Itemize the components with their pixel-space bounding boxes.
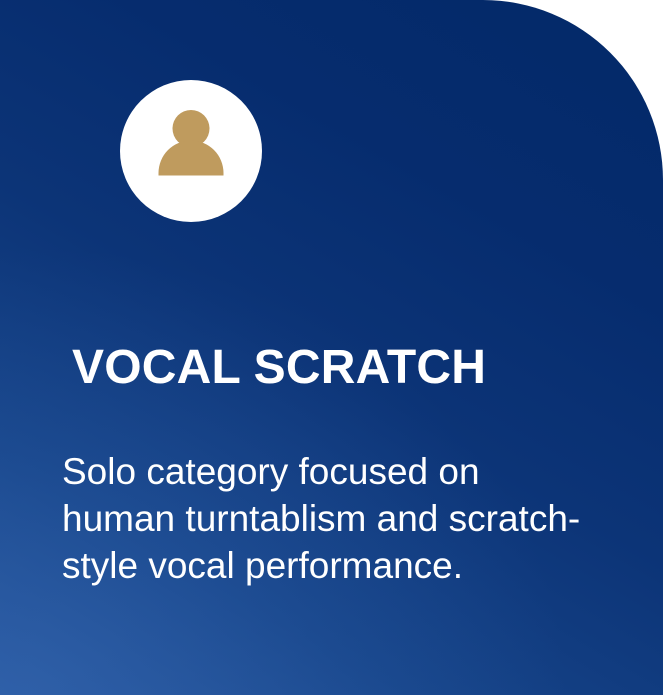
page-title: VOCAL SCRATCH — [72, 340, 486, 396]
person-icon — [120, 80, 262, 222]
avatar — [120, 80, 262, 222]
category-card[interactable]: VOCAL SCRATCH Solo category focused on h… — [0, 0, 663, 695]
card-content: VOCAL SCRATCH Solo category focused on h… — [0, 0, 663, 695]
card-description: Solo category focused on human turntabli… — [62, 448, 592, 589]
